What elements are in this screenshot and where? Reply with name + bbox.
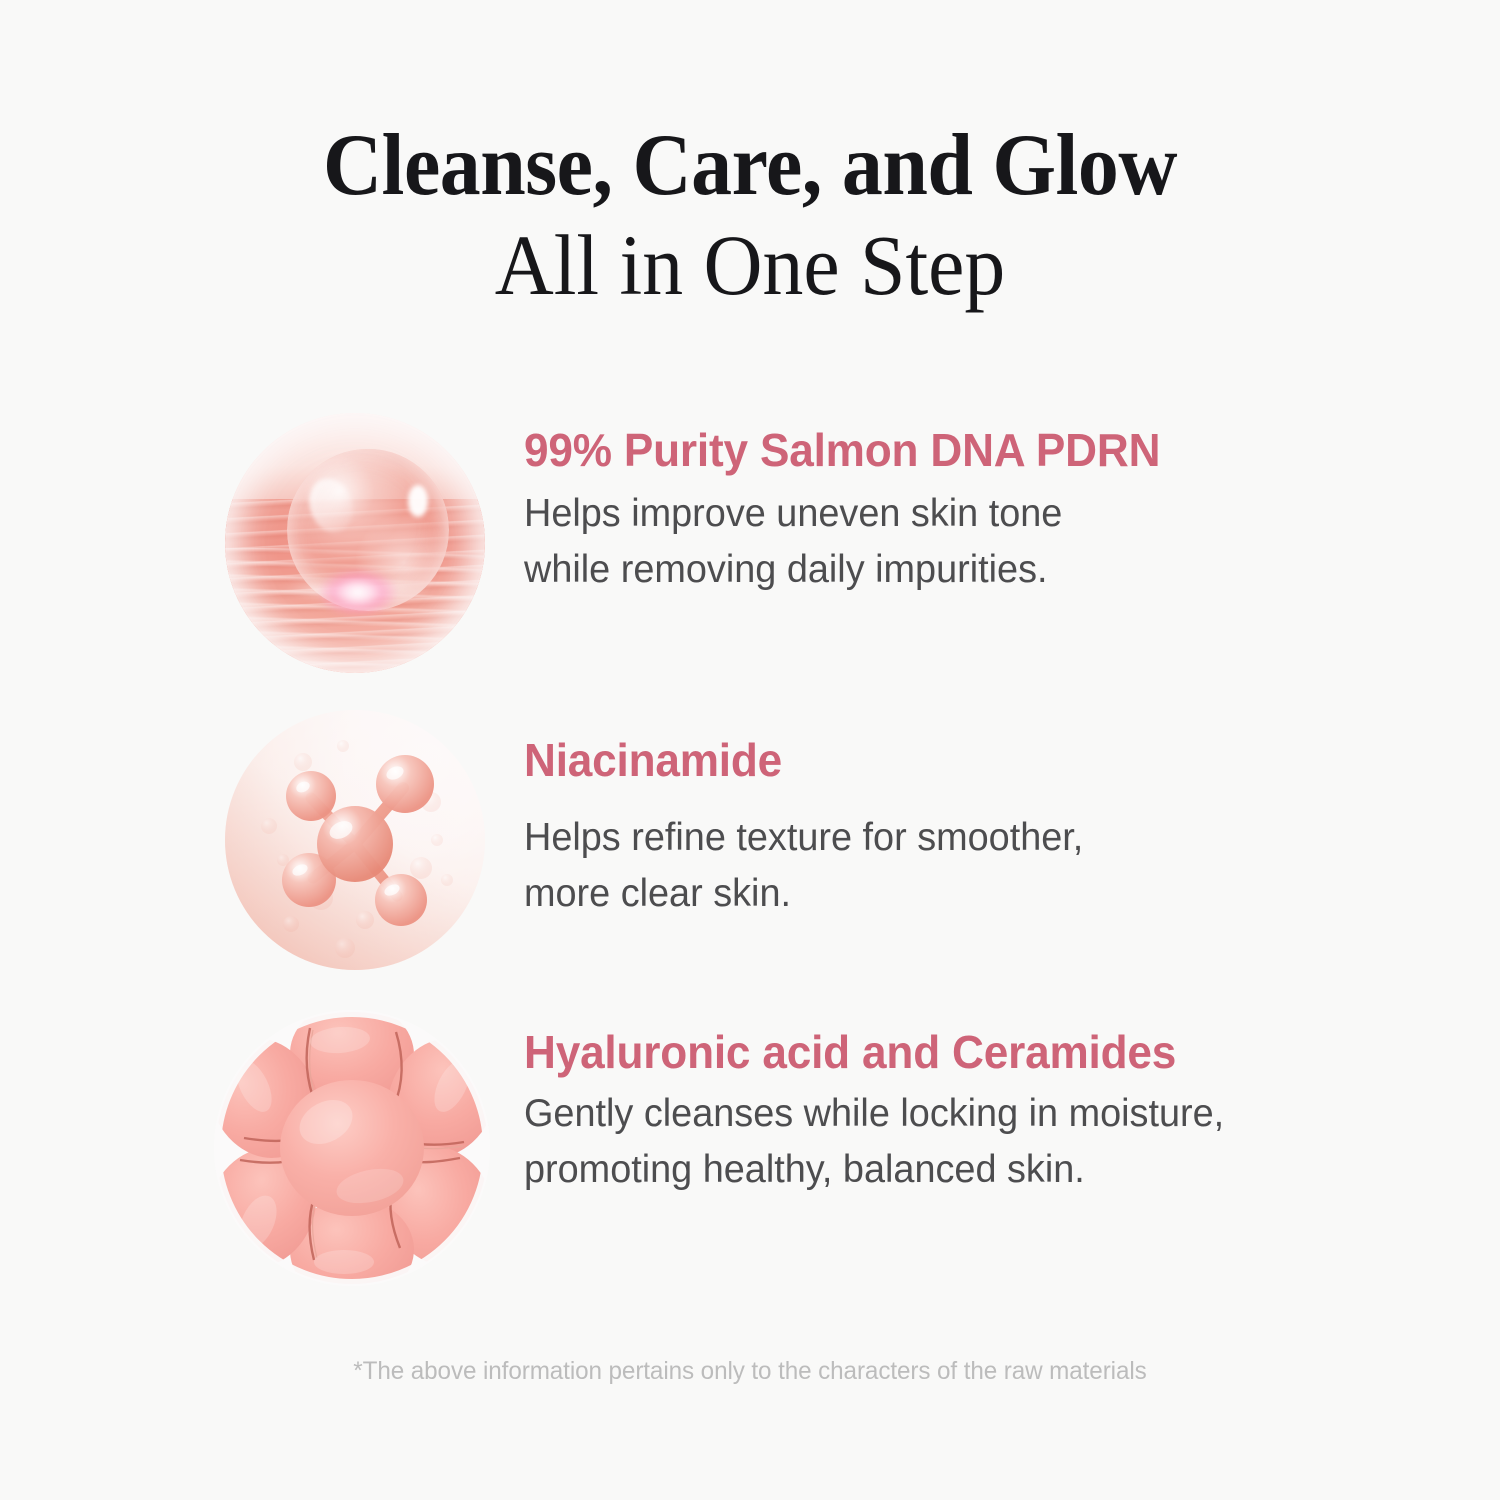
discs-graphic — [214, 1010, 490, 1286]
feature-description: Helps refine texture for smoother, more … — [524, 810, 1413, 921]
molecule-atoms — [282, 755, 434, 926]
water-droplet-sphere-image — [225, 413, 485, 673]
feature-heading: Niacinamide — [524, 734, 1403, 786]
page-title: Cleanse, Care, and Glow All in One Step — [0, 118, 1500, 313]
feature-description-line: Gently cleanses while locking in moistur… — [524, 1086, 1413, 1141]
title-line-2: All in One Step — [38, 217, 1463, 313]
feature-text-hyaluronic: Hyaluronic acid and Ceramides Gently cle… — [524, 1026, 1440, 1197]
feature-description-line: promoting healthy, balanced skin. — [524, 1142, 1413, 1197]
feature-heading: 99% Purity Salmon DNA PDRN — [524, 424, 1403, 476]
feature-item-niacinamide: Niacinamide Helps refine texture for smo… — [0, 700, 1500, 1000]
feature-description-line: Helps improve uneven skin tone — [524, 486, 1413, 541]
discs-center — [280, 1080, 424, 1216]
feature-item-hyaluronic: Hyaluronic acid and Ceramides Gently cle… — [0, 1000, 1500, 1300]
feature-heading: Hyaluronic acid and Ceramides — [524, 1026, 1403, 1078]
title-line-1: Cleanse, Care, and Glow — [53, 118, 1448, 213]
feature-description-line: Helps refine texture for smoother, — [524, 810, 1413, 865]
feature-text-pdrn: 99% Purity Salmon DNA PDRN Helps improve… — [524, 424, 1440, 597]
footnote-disclaimer: *The above information pertains only to … — [23, 1357, 1478, 1386]
discs-art — [214, 1010, 490, 1286]
feature-text-niacinamide: Niacinamide Helps refine texture for smo… — [524, 734, 1440, 921]
molecule-graphic — [225, 710, 485, 970]
pink-gel-discs-image — [214, 1010, 490, 1286]
feature-description-line: while removing daily impurities. — [524, 542, 1413, 597]
droplet-vignette — [225, 413, 485, 673]
droplet-art — [225, 413, 485, 673]
feature-description: Gently cleanses while locking in moistur… — [524, 1086, 1413, 1197]
feature-description-line: more clear skin. — [524, 866, 1413, 921]
feature-description: Helps improve uneven skin tone while rem… — [524, 486, 1413, 597]
niacinamide-molecule-image — [225, 710, 485, 970]
feature-list: 99% Purity Salmon DNA PDRN Helps improve… — [0, 400, 1500, 1300]
feature-item-pdrn: 99% Purity Salmon DNA PDRN Helps improve… — [0, 400, 1500, 700]
molecule-art — [225, 710, 485, 970]
